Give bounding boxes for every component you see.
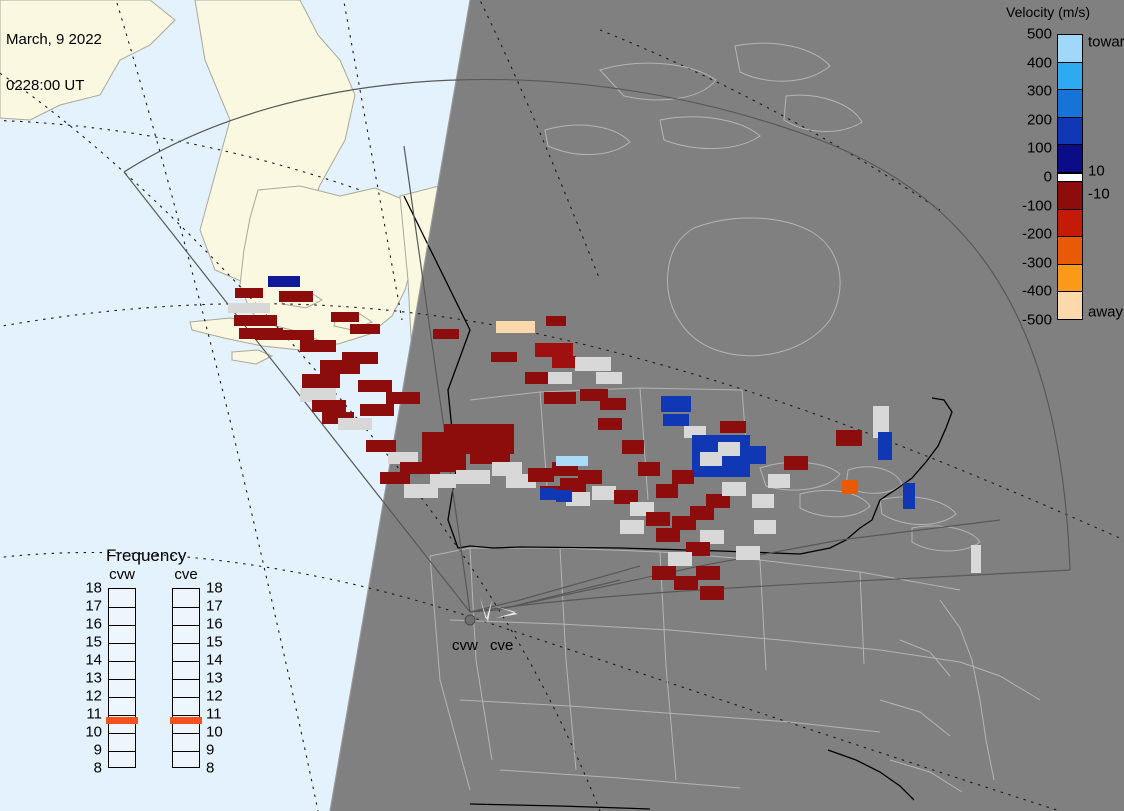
- colorbar-segment: [1058, 63, 1082, 91]
- velocity-cell[interactable]: [228, 303, 270, 313]
- velocity-cell[interactable]: [470, 448, 510, 464]
- frequency-tick-label: 14: [206, 652, 223, 669]
- velocity-cell[interactable]: [622, 440, 644, 454]
- colorbar-segment: [1058, 118, 1082, 146]
- velocity-cell[interactable]: [663, 414, 689, 426]
- colorbar-tick-label: -300: [1022, 254, 1052, 271]
- colorbar-segment: [1058, 90, 1082, 118]
- velocity-cell[interactable]: [528, 468, 554, 482]
- velocity-cell[interactable]: [366, 440, 396, 452]
- timestamp-time: 0228:00 UT: [6, 78, 102, 94]
- velocity-cell[interactable]: [768, 474, 790, 488]
- frequency-gridline: [173, 625, 199, 626]
- frequency-tick-label: 9: [82, 742, 102, 759]
- velocity-cell[interactable]: [718, 442, 740, 456]
- colorbar-title: Velocity (m/s): [1006, 4, 1124, 20]
- velocity-cell[interactable]: [360, 404, 394, 416]
- velocity-cell[interactable]: [496, 321, 535, 333]
- colorbar-tick-label: 500: [1027, 26, 1052, 43]
- frequency-tick-label: 11: [206, 706, 222, 723]
- velocity-cell[interactable]: [234, 315, 277, 326]
- velocity-cell[interactable]: [338, 418, 372, 430]
- velocity-cell[interactable]: [903, 483, 915, 509]
- velocity-cell[interactable]: [546, 316, 566, 326]
- velocity-cell[interactable]: [736, 546, 760, 560]
- frequency-gridline: [173, 751, 199, 752]
- colorbar-zero-gap: [1058, 173, 1082, 182]
- frequency-scale-box[interactable]: [108, 588, 136, 768]
- frequency-gridline: [173, 607, 199, 608]
- velocity-colorbar: Velocity (m/s) 5004003002001000-100-200-…: [1000, 0, 1124, 340]
- frequency-gridline: [109, 607, 135, 608]
- frequency-tick-label: 18: [82, 580, 102, 597]
- velocity-cell[interactable]: [300, 388, 336, 402]
- frequency-tick-label: 13: [206, 670, 223, 687]
- frequency-tick-label: 12: [82, 688, 102, 705]
- velocity-cell[interactable]: [548, 372, 572, 384]
- colorbar-segment: [1058, 237, 1082, 265]
- velocity-cell[interactable]: [700, 530, 724, 544]
- colorbar-tick-label: 200: [1027, 111, 1052, 128]
- colorbar-tick-label: 400: [1027, 54, 1052, 71]
- frequency-tick-label: 8: [82, 760, 102, 777]
- velocity-cell[interactable]: [752, 494, 774, 508]
- velocity-cell[interactable]: [700, 586, 724, 600]
- velocity-cell[interactable]: [744, 446, 766, 464]
- velocity-cell[interactable]: [350, 324, 380, 334]
- colorbar-tick-label: -400: [1022, 283, 1052, 300]
- velocity-cell[interactable]: [842, 480, 858, 494]
- velocity-cell[interactable]: [540, 488, 556, 500]
- velocity-cell[interactable]: [596, 372, 622, 384]
- velocity-cell[interactable]: [268, 276, 300, 287]
- velocity-cell[interactable]: [878, 432, 892, 460]
- frequency-column-label: cve: [172, 566, 200, 583]
- velocity-cell[interactable]: [652, 566, 676, 580]
- frequency-marker: [170, 717, 202, 724]
- velocity-cell[interactable]: [784, 456, 808, 470]
- colorbar-tick-label: -200: [1022, 226, 1052, 243]
- velocity-cell[interactable]: [556, 456, 588, 466]
- velocity-cell[interactable]: [342, 352, 378, 364]
- frequency-tick-label: 16: [82, 616, 102, 633]
- radar-site-label-cvw: cvw: [452, 637, 478, 654]
- velocity-cell[interactable]: [575, 357, 611, 371]
- velocity-cell[interactable]: [672, 470, 694, 484]
- velocity-cell[interactable]: [556, 490, 572, 502]
- colorbar-tick-label: 300: [1027, 83, 1052, 100]
- colorbar-segment: [1058, 35, 1082, 63]
- frequency-tick-label: 8: [206, 760, 214, 777]
- velocity-cell[interactable]: [312, 400, 346, 412]
- colorbar-strip[interactable]: [1057, 34, 1083, 320]
- frequency-gridline: [109, 661, 135, 662]
- frequency-tick-label: 15: [82, 634, 102, 651]
- radar-map-view: March, 9 2022 0228:00 UT Velocity (m/s) …: [0, 0, 1124, 811]
- frequency-gridline: [173, 661, 199, 662]
- frequency-title: Frequency: [106, 546, 186, 566]
- frequency-tick-label: 18: [206, 580, 223, 597]
- frequency-legend: Frequency cvwcve 18171615141312111098181…: [80, 546, 250, 796]
- frequency-gridline: [109, 751, 135, 752]
- frequency-column-cve[interactable]: cve: [172, 588, 200, 768]
- frequency-tick-label: 17: [82, 598, 102, 615]
- velocity-cell[interactable]: [358, 380, 392, 392]
- velocity-cell[interactable]: [754, 520, 776, 534]
- velocity-cell[interactable]: [674, 576, 698, 590]
- velocity-cell[interactable]: [646, 512, 670, 526]
- frequency-gridline: [109, 625, 135, 626]
- velocity-cell[interactable]: [430, 474, 456, 488]
- velocity-cell[interactable]: [386, 392, 420, 404]
- velocity-cell[interactable]: [706, 494, 730, 508]
- frequency-tick-label: 10: [206, 724, 223, 741]
- frequency-gridline: [173, 643, 199, 644]
- frequency-tick-label: 9: [206, 742, 214, 759]
- frequency-tick-label: 13: [82, 670, 102, 687]
- frequency-scale-box[interactable]: [172, 588, 200, 768]
- velocity-cell[interactable]: [836, 430, 862, 446]
- frequency-tick-label: 12: [206, 688, 223, 705]
- frequency-gridline: [173, 679, 199, 680]
- colorbar-segment: [1058, 265, 1082, 293]
- velocity-cell[interactable]: [235, 288, 263, 298]
- frequency-gridline: [109, 643, 135, 644]
- colorbar-gap-lower-label: -10: [1088, 186, 1110, 203]
- velocity-cell[interactable]: [331, 312, 359, 322]
- velocity-cell[interactable]: [722, 482, 746, 496]
- velocity-cell[interactable]: [592, 486, 616, 500]
- colorbar-tick-label: 100: [1027, 140, 1052, 157]
- velocity-cell[interactable]: [600, 398, 626, 410]
- velocity-cell[interactable]: [690, 506, 714, 520]
- colorbar-tick-label: 0: [1044, 169, 1052, 186]
- velocity-cell[interactable]: [552, 356, 576, 368]
- colorbar-toward-label: toward: [1088, 34, 1124, 51]
- velocity-cell[interactable]: [656, 484, 678, 498]
- frequency-gridline: [109, 679, 135, 680]
- velocity-cell[interactable]: [661, 396, 691, 412]
- frequency-tick-label: 15: [206, 634, 223, 651]
- velocity-cell[interactable]: [598, 418, 622, 430]
- velocity-cell[interactable]: [544, 392, 576, 404]
- velocity-cell[interactable]: [620, 520, 644, 534]
- frequency-gridline: [173, 733, 199, 734]
- frequency-tick-label: 16: [206, 616, 223, 633]
- velocity-cell[interactable]: [638, 462, 660, 476]
- frequency-tick-label: 14: [82, 652, 102, 669]
- radar-site-label-cve: cve: [490, 637, 513, 654]
- velocity-cell[interactable]: [456, 470, 490, 484]
- velocity-cell[interactable]: [300, 340, 336, 352]
- velocity-cell[interactable]: [696, 566, 720, 580]
- velocity-cell[interactable]: [578, 470, 602, 484]
- frequency-tick-label: 17: [206, 598, 223, 615]
- colorbar-segment: [1058, 292, 1082, 319]
- velocity-cell[interactable]: [668, 552, 692, 566]
- frequency-gridline: [109, 697, 135, 698]
- frequency-gridline: [109, 733, 135, 734]
- timestamp-label: March, 9 2022 0228:00 UT: [6, 2, 102, 124]
- velocity-cell[interactable]: [535, 343, 573, 357]
- frequency-column-cvw[interactable]: cvw: [108, 588, 136, 768]
- frequency-marker: [106, 717, 138, 724]
- velocity-cell[interactable]: [971, 545, 981, 573]
- timestamp-date: March, 9 2022: [6, 32, 102, 48]
- velocity-cell[interactable]: [492, 462, 522, 476]
- velocity-cell[interactable]: [302, 374, 340, 388]
- frequency-column-label: cvw: [108, 566, 136, 583]
- velocity-cell[interactable]: [491, 352, 517, 362]
- colorbar-tick-label: -500: [1022, 312, 1052, 329]
- frequency-gridline: [173, 697, 199, 698]
- frequency-tick-label: 10: [82, 724, 102, 741]
- colorbar-gap-upper-label: 10: [1088, 163, 1105, 180]
- colorbar-segment: [1058, 182, 1082, 210]
- colorbar-tick-label: -100: [1022, 197, 1052, 214]
- colorbar-segment: [1058, 145, 1082, 173]
- colorbar-segment: [1058, 210, 1082, 238]
- velocity-cell[interactable]: [720, 421, 746, 433]
- frequency-tick-label: 11: [82, 706, 102, 723]
- velocity-cell[interactable]: [279, 291, 313, 302]
- velocity-cell[interactable]: [282, 330, 314, 340]
- velocity-cell[interactable]: [433, 329, 459, 339]
- velocity-cell[interactable]: [656, 528, 680, 542]
- velocity-cell[interactable]: [380, 472, 410, 484]
- colorbar-away-label: away: [1088, 304, 1123, 321]
- velocity-cell[interactable]: [614, 490, 638, 504]
